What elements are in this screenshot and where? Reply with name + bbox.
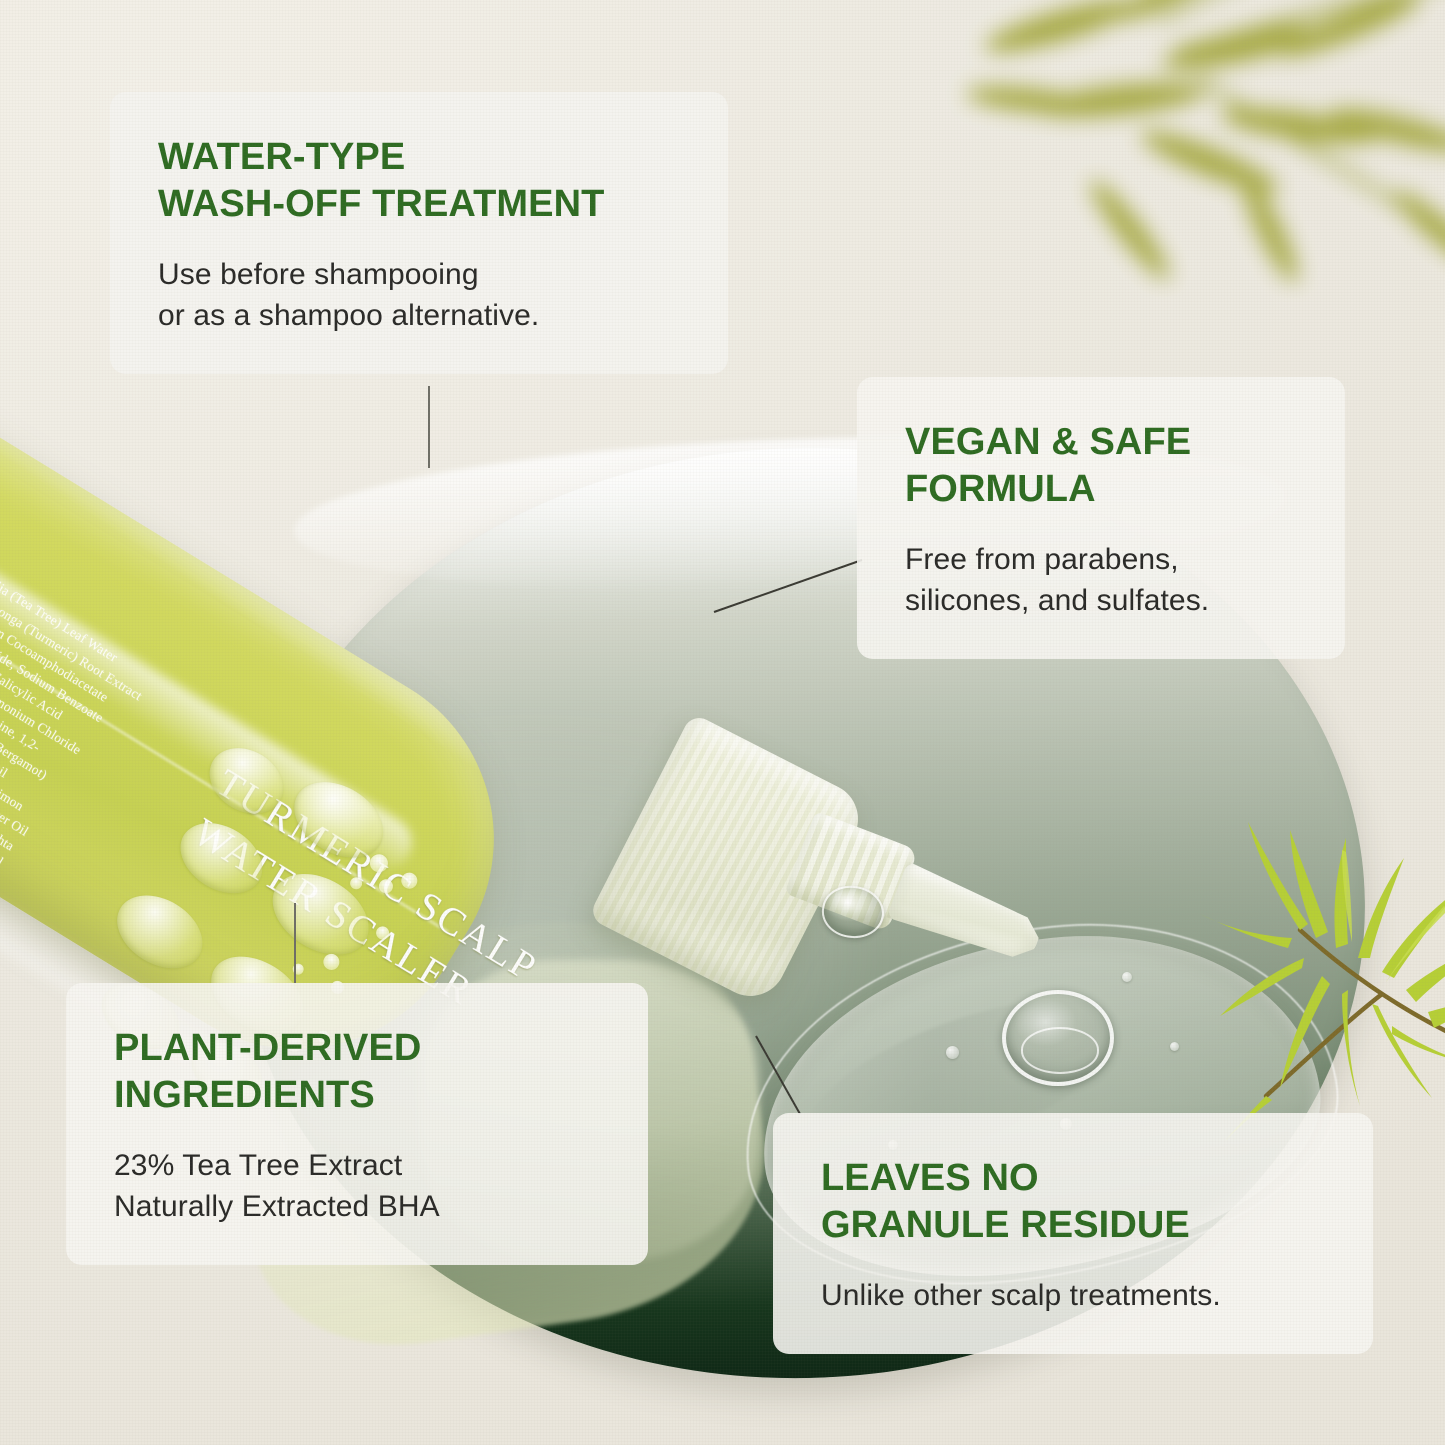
connector-line-vegan <box>700 550 870 630</box>
callout-body: 23% Tea Tree Extract Naturally Extracted… <box>114 1145 608 1227</box>
tea-tree-sprig-blurred-icon <box>880 0 1445 360</box>
callout-title: VEGAN & SAFE FORMULA <box>905 419 1305 513</box>
nozzle-tip <box>886 861 1048 971</box>
callout-card-leaves-no-residue[interactable]: LEAVES NO GRANULE RESIDUE Unlike other s… <box>773 1113 1373 1354</box>
callout-card-plant-derived[interactable]: PLANT-DERIVED INGREDIENTS 23% Tea Tree E… <box>66 983 648 1265</box>
callout-card-water-type[interactable]: WATER-TYPE WASH-OFF TREATMENT Use before… <box>110 92 728 374</box>
callout-title: PLANT-DERIVED INGREDIENTS <box>114 1025 608 1119</box>
gel-bubble-large <box>1002 990 1114 1086</box>
callout-card-vegan-safe[interactable]: VEGAN & SAFE FORMULA Free from parabens,… <box>857 377 1345 659</box>
callout-title: WATER-TYPE WASH-OFF TREATMENT <box>158 134 688 228</box>
connector-line-water <box>428 386 430 468</box>
gel-bubble-small <box>946 1046 959 1059</box>
callout-title: LEAVES NO GRANULE RESIDUE <box>821 1155 1333 1249</box>
callout-body: Unlike other scalp treatments. <box>821 1275 1333 1316</box>
connector-line-plant <box>294 903 296 983</box>
gel-bubble-small <box>1170 1042 1179 1051</box>
connector-line-leaves <box>752 1032 822 1122</box>
callout-body: Use before shampooing or as a shampoo al… <box>158 254 688 336</box>
callout-body: Free from parabens, silicones, and sulfa… <box>905 539 1305 621</box>
infographic-stage: Water, Melaleuca Alternifolia (Tea Tree)… <box>0 0 1445 1445</box>
tea-tree-sprig-icon <box>1196 812 1445 1142</box>
gel-bubble-small <box>1122 972 1132 982</box>
